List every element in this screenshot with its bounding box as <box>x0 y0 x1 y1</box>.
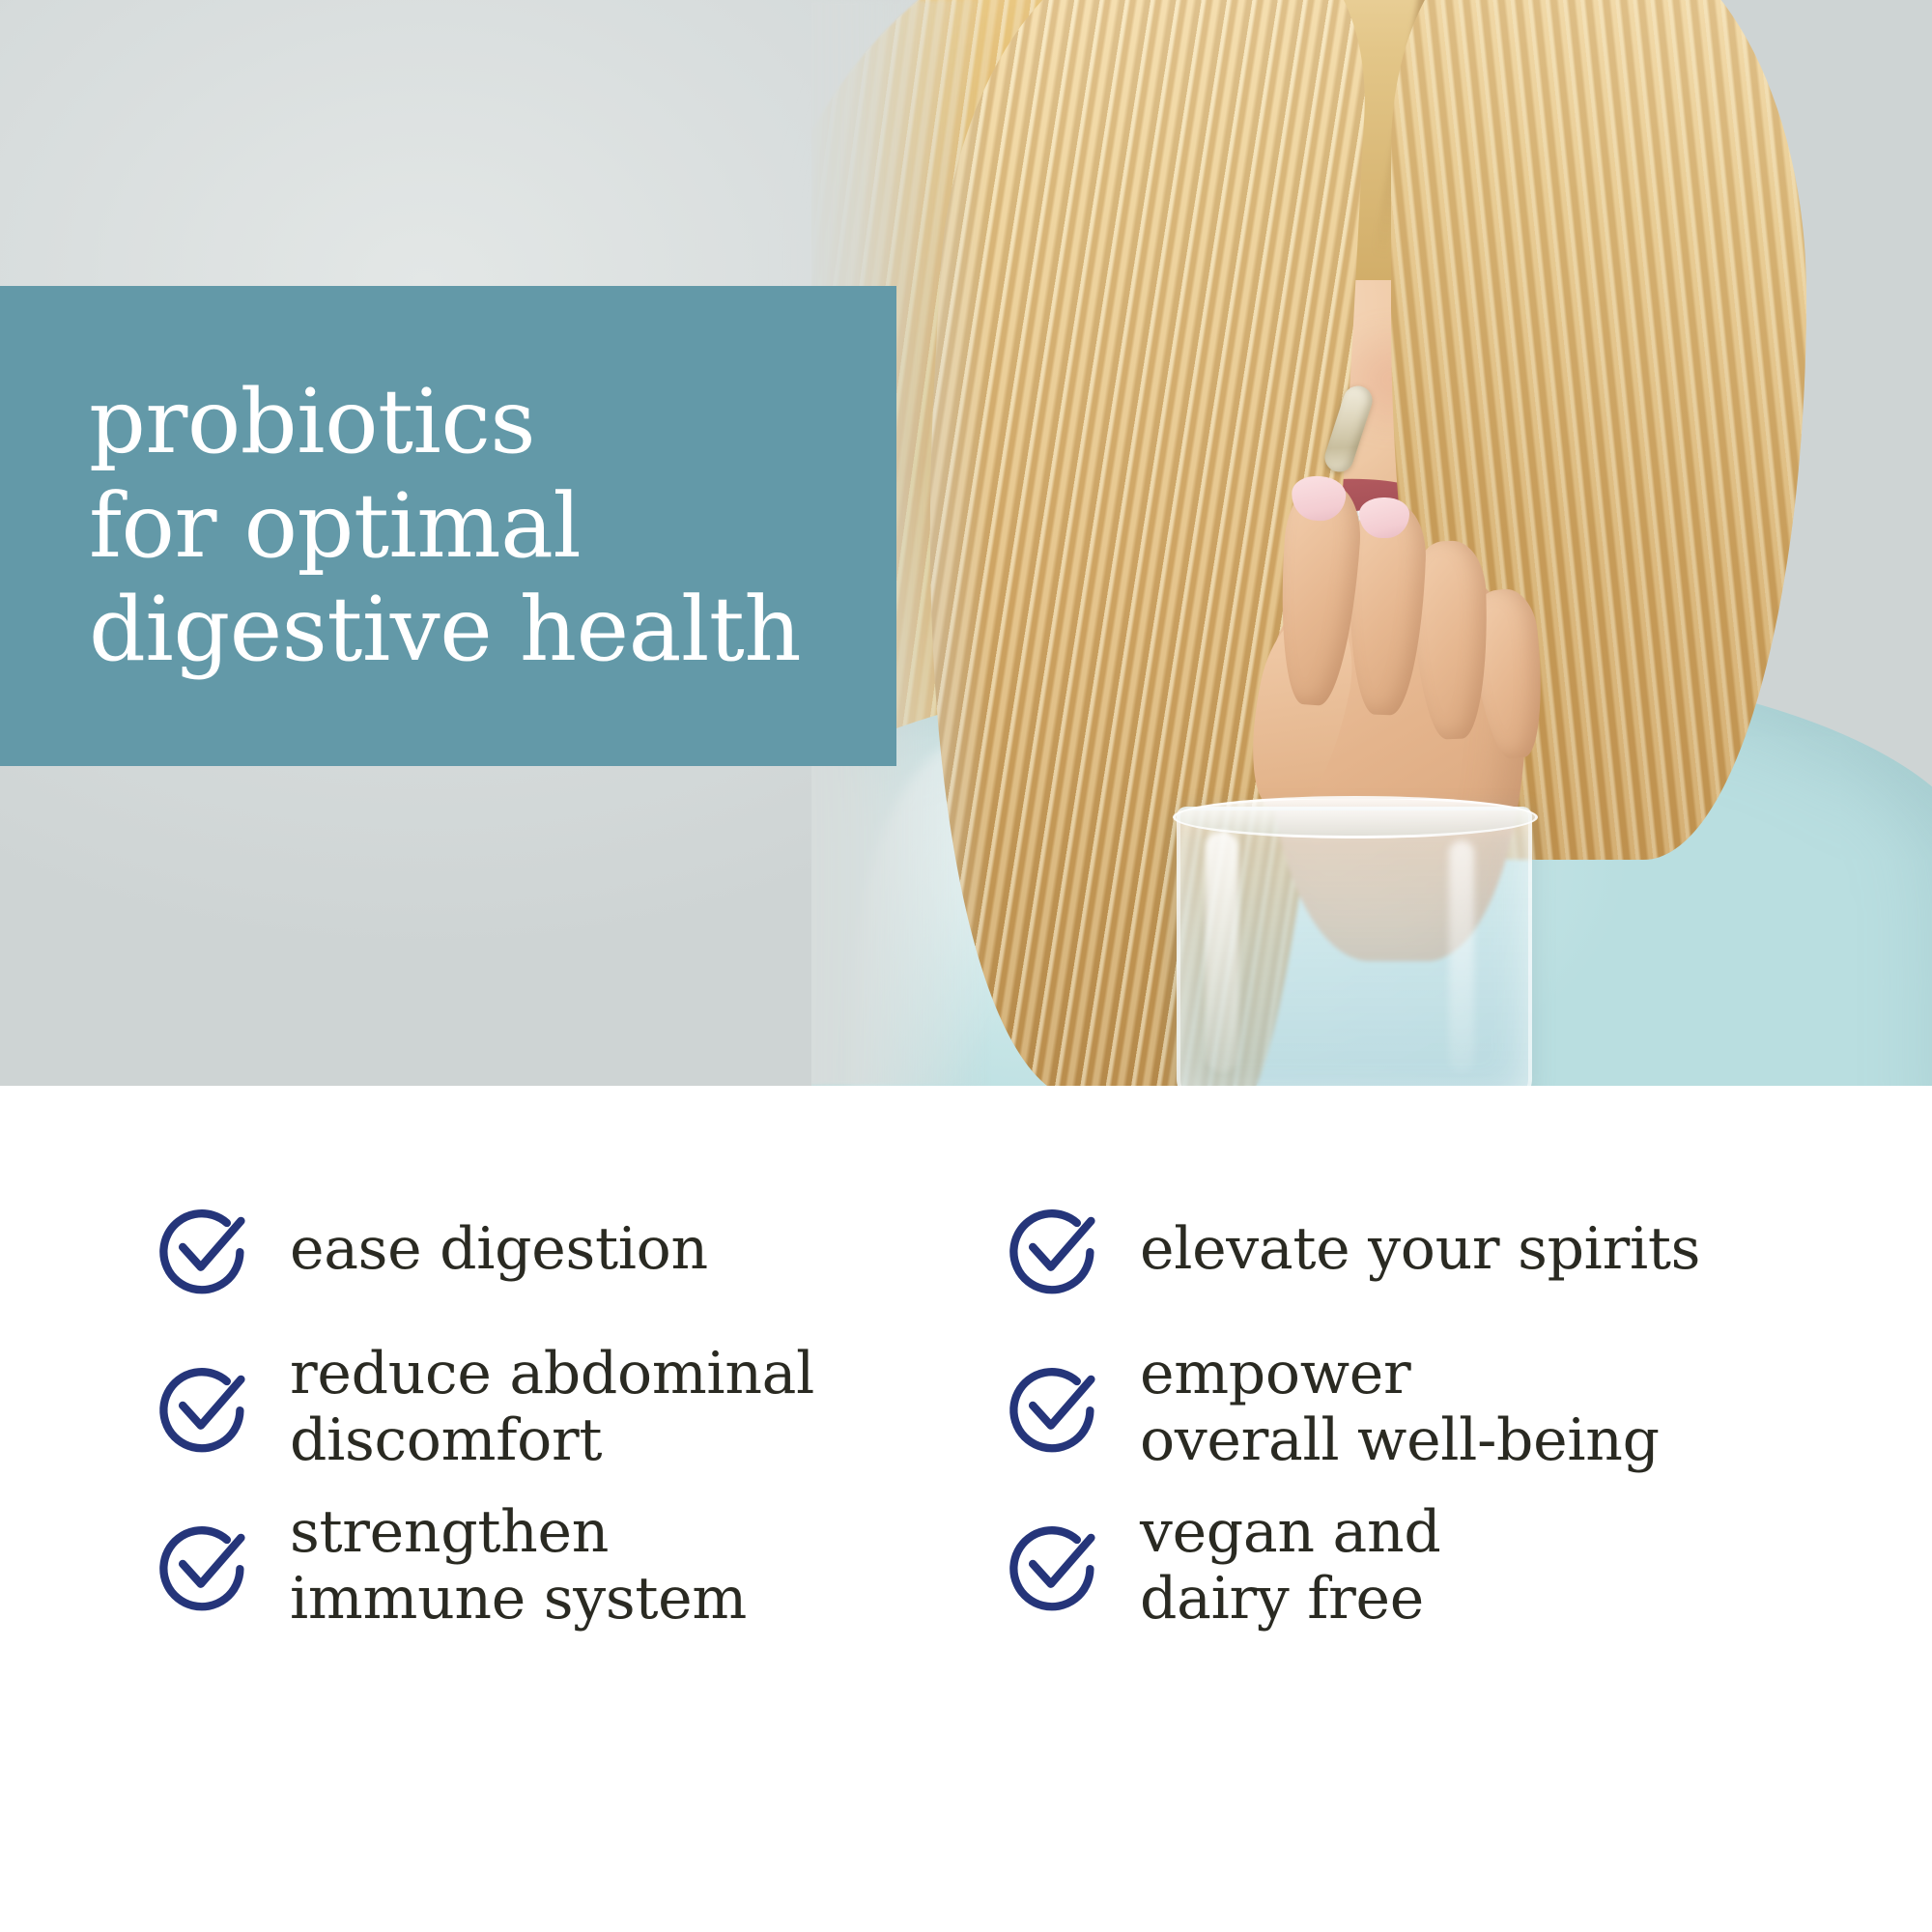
check-circle-icon <box>1005 1357 1105 1458</box>
benefits-section: ease digestion elevate your spirits redu… <box>0 1086 1932 1932</box>
page-title: probiotics for optimal digestive health <box>0 370 801 682</box>
benefit-item: strengthen immune system <box>155 1499 1005 1633</box>
hero-section: probiotics for optimal digestive health <box>0 0 1932 1086</box>
product-benefits-poster: probiotics for optimal digestive health … <box>0 0 1932 1932</box>
check-circle-icon <box>155 1357 255 1458</box>
check-circle-icon <box>1005 1199 1105 1299</box>
benefit-item: ease digestion <box>155 1182 1005 1316</box>
woman-with-capsule-photo <box>811 0 1932 1086</box>
benefit-label: reduce abdominal discomfort <box>290 1341 814 1474</box>
benefit-item: reduce abdominal discomfort <box>155 1341 1005 1474</box>
check-circle-icon <box>1005 1516 1105 1616</box>
headline-panel: probiotics for optimal digestive health <box>0 286 896 766</box>
benefit-item: vegan and dairy free <box>1005 1499 1855 1633</box>
check-circle-icon <box>155 1516 255 1616</box>
benefit-label: elevate your spirits <box>1140 1216 1700 1283</box>
check-circle-icon <box>155 1199 255 1299</box>
water-glass-highlight-left <box>1206 831 1238 1072</box>
benefit-item: elevate your spirits <box>1005 1182 1855 1316</box>
water-glass-highlight-right <box>1449 840 1474 1072</box>
benefit-label: empower overall well-being <box>1140 1341 1660 1474</box>
benefit-label: ease digestion <box>290 1216 708 1283</box>
benefit-label: vegan and dairy free <box>1140 1499 1440 1633</box>
benefit-item: empower overall well-being <box>1005 1341 1855 1474</box>
benefits-grid: ease digestion elevate your spirits redu… <box>155 1182 1816 1633</box>
benefit-label: strengthen immune system <box>290 1499 747 1633</box>
